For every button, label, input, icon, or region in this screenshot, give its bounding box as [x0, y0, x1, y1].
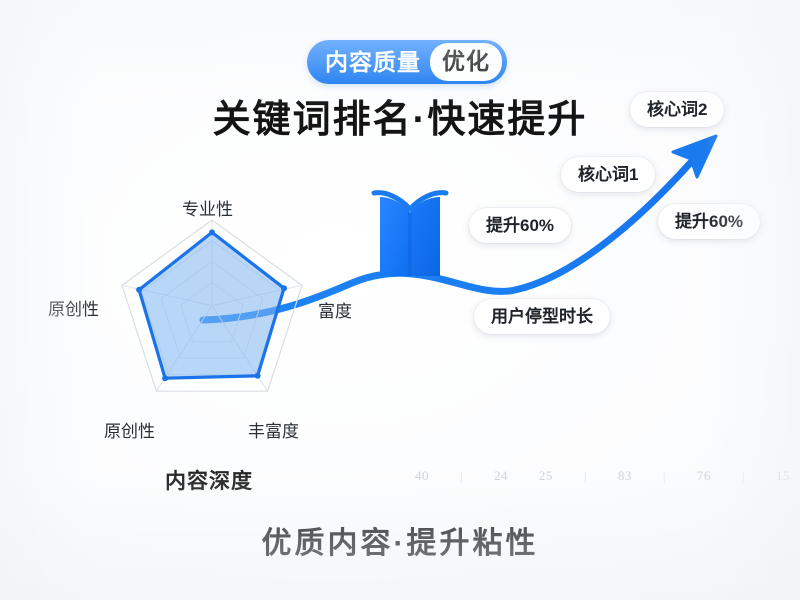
- faint-axis-strip: 40 | 24 25 | 83 | 76 | 15: [415, 468, 790, 484]
- radar-axis-label-left: 原创性: [48, 301, 99, 318]
- axis-tick-4: |: [584, 468, 587, 484]
- pill-keyword-1[interactable]: 核心词1: [561, 157, 655, 192]
- infographic-canvas: 专业性 富度 丰富度 原创性 原创性 内容深度 内容质量 优化 关键词排名·快速…: [0, 0, 800, 600]
- radar-axis-label-right: 富度: [318, 303, 352, 320]
- radar-chart-svg: [30, 195, 390, 455]
- radar-axis-label-bottom-left: 原创性: [104, 423, 155, 440]
- radar-series: [136, 229, 287, 381]
- axis-value-7: 76: [697, 468, 711, 484]
- pill-improvement-right[interactable]: 提升60%: [658, 204, 760, 239]
- radar-axis-label-bottom-right: 丰富度: [248, 423, 299, 440]
- pill-improvement-left[interactable]: 提升60%: [469, 208, 571, 243]
- badge-chip-label: 优化: [430, 43, 502, 81]
- axis-tick-1: |: [460, 468, 463, 484]
- pill-keyword-2[interactable]: 核心词2: [630, 92, 724, 127]
- quality-badge[interactable]: 内容质量 优化: [307, 40, 507, 84]
- axis-value-0: 40: [415, 468, 429, 484]
- axis-value-9: 15: [776, 468, 790, 484]
- radar-caption: 内容深度: [165, 465, 253, 495]
- axis-tick-8: |: [742, 468, 745, 484]
- axis-value-2: 24: [494, 468, 508, 484]
- axis-value-3: 25: [539, 468, 553, 484]
- radar-chart: 专业性 富度 丰富度 原创性 原创性: [30, 195, 390, 455]
- radar-axis-label-top: 专业性: [182, 201, 233, 218]
- badge-main-label: 内容质量: [325, 51, 430, 74]
- page-subtitle: 优质内容·提升粘性: [0, 518, 800, 562]
- axis-value-5: 83: [618, 468, 632, 484]
- axis-tick-6: |: [663, 468, 666, 484]
- pill-dwell-time[interactable]: 用户停型时长: [474, 299, 610, 334]
